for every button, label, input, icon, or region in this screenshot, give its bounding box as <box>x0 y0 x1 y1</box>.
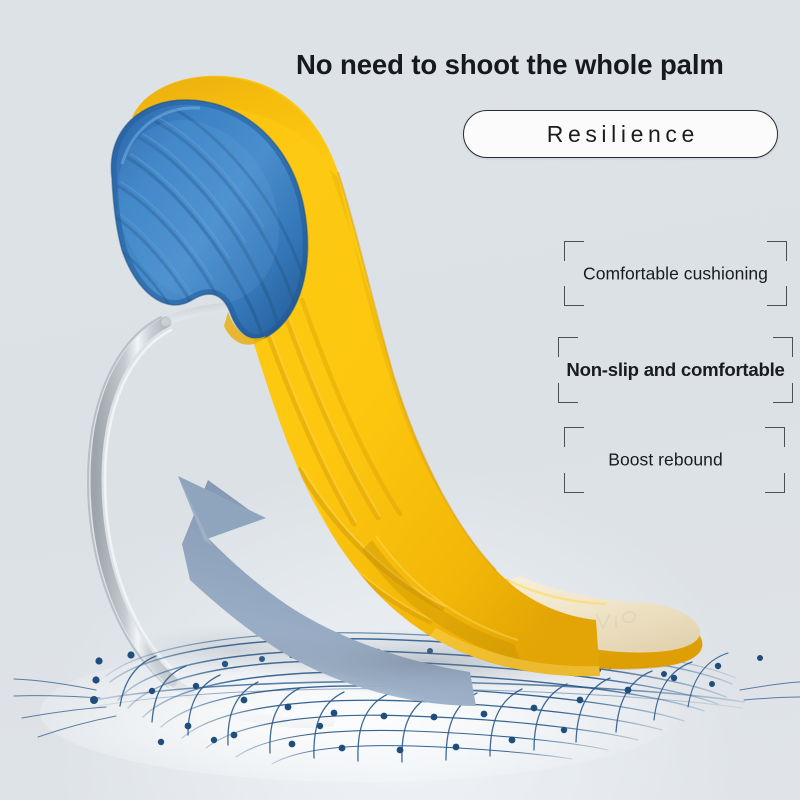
insole-illustration <box>0 0 800 800</box>
product-marketing-banner: No need to shoot the whole palm Resilien… <box>0 0 800 800</box>
